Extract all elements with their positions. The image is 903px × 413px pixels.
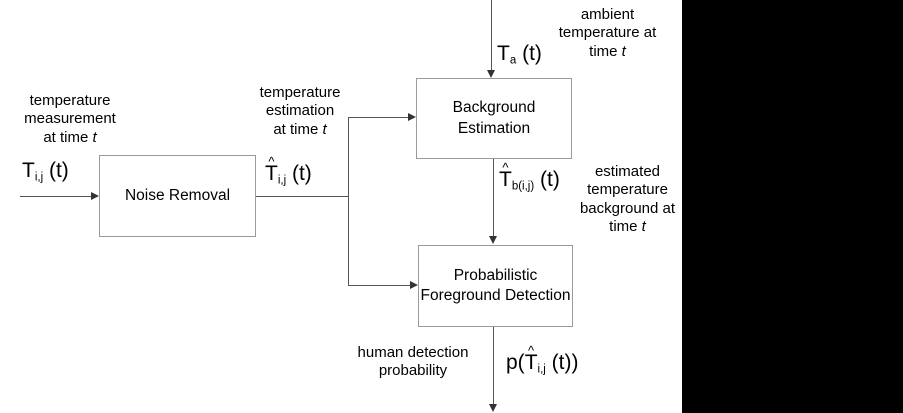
label-output-description-text: human detection probability	[358, 344, 469, 379]
connector-input-to-noise-removal	[20, 196, 92, 197]
hat-accent-icon: ^	[268, 155, 274, 168]
label-input-description: temperature measurement at time t	[0, 92, 140, 147]
black-panel	[682, 0, 903, 413]
symbol-ambient-signal-base: T	[497, 42, 510, 65]
block-background-estimation[interactable]: Background Estimation	[416, 78, 572, 159]
arrowhead-into-background-estimation-top	[487, 70, 495, 78]
block-noise-removal[interactable]: Noise Removal	[99, 155, 256, 237]
arrowhead-output	[489, 404, 497, 412]
symbol-output-signal-sub: i,j	[538, 363, 546, 375]
label-estimation-description-text: temperature estimation at time	[260, 84, 341, 138]
connector-noise-removal-output	[256, 196, 349, 197]
symbol-background-signal-hatgroup: ^T	[499, 169, 512, 190]
label-estimation-description-italic: t	[323, 121, 327, 138]
symbol-ambient-signal-arg: (t)	[522, 42, 542, 65]
symbol-output-signal-hatgroup: ^T	[525, 352, 538, 373]
symbol-denoised-signal: ^Ti,j (t)	[265, 163, 312, 187]
symbol-input-signal-sub: i,j	[35, 171, 43, 183]
label-estimation-description: temperature estimation at time t	[234, 84, 366, 139]
symbol-denoised-signal-sub: i,j	[278, 174, 286, 186]
block-probabilistic-foreground-detection[interactable]: Probabilistic Foreground Detection	[418, 245, 573, 327]
symbol-input-signal-arg: (t)	[49, 159, 69, 182]
symbol-output-signal-arg: (t))	[552, 351, 579, 374]
block-noise-removal-label: Noise Removal	[125, 186, 230, 206]
arrowhead-into-background-estimation	[408, 113, 416, 121]
hat-accent-icon: ^	[528, 344, 534, 357]
label-background-description-text: estimated temperature background at time	[580, 163, 675, 235]
connector-ambient-input	[491, 0, 492, 70]
symbol-ambient-signal: Ta (t)	[497, 43, 542, 67]
symbol-output-signal: p(^Ti,j (t))	[506, 352, 579, 376]
arrowhead-into-foreground-detection-top	[489, 236, 497, 244]
symbol-input-signal: Ti,j (t)	[22, 160, 69, 184]
connector-junction-riser	[348, 117, 349, 285]
symbol-denoised-signal-hatgroup: ^T	[265, 163, 278, 184]
block-background-estimation-label: Background Estimation	[417, 98, 571, 138]
label-ambient-description: ambient temperature at time t	[530, 6, 685, 61]
symbol-denoised-signal-arg: (t)	[292, 162, 312, 185]
label-output-description: human detection probability	[332, 344, 494, 381]
label-input-description-text: temperature measurement at time	[24, 92, 116, 146]
symbol-background-signal-arg: (t)	[540, 168, 560, 191]
arrowhead-into-foreground-detection	[410, 281, 418, 289]
label-ambient-description-text: ambient temperature at time	[559, 6, 657, 60]
symbol-output-signal-prefix: p(	[506, 351, 525, 374]
symbol-ambient-signal-sub: a	[510, 54, 516, 66]
label-input-description-italic: t	[93, 129, 97, 146]
symbol-background-signal: ^Tb(i,j) (t)	[499, 169, 560, 193]
connector-background-to-foreground	[493, 159, 494, 237]
symbol-input-signal-base: T	[22, 159, 35, 182]
symbol-background-signal-sub: b(i,j)	[512, 180, 534, 192]
diagram-canvas: Noise Removal Background Estimation Prob…	[0, 0, 903, 413]
block-probabilistic-foreground-detection-label: Probabilistic Foreground Detection	[419, 266, 572, 306]
connector-to-foreground-detection	[348, 285, 411, 286]
arrowhead-into-noise-removal	[91, 192, 99, 200]
label-ambient-description-italic: t	[622, 43, 626, 60]
label-background-description: estimated temperature background at time…	[570, 163, 685, 236]
hat-accent-icon: ^	[502, 161, 508, 174]
label-background-description-italic: t	[642, 218, 646, 235]
